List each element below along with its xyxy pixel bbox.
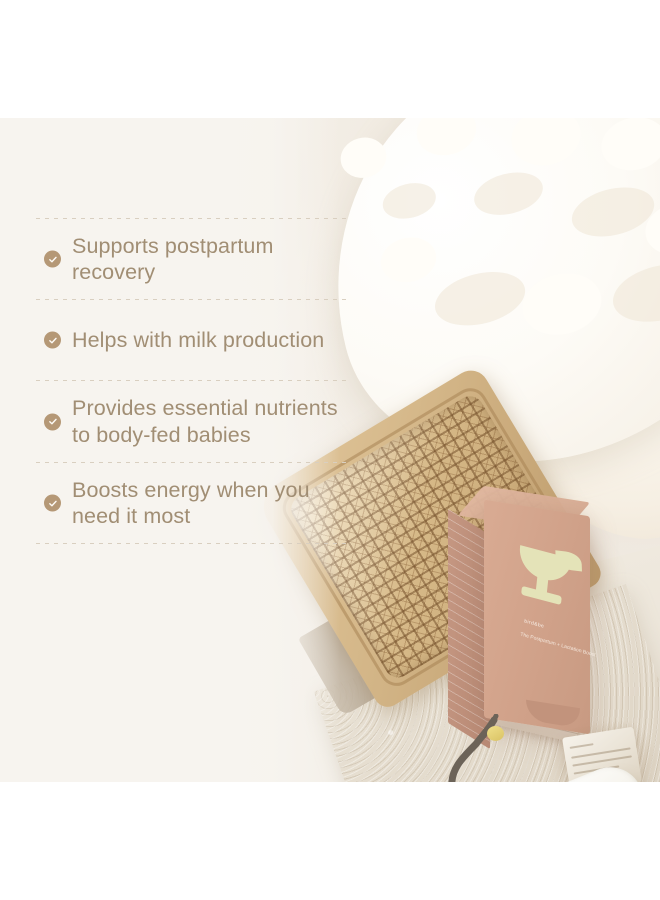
benefit-label: Boosts energy when you need it most xyxy=(72,477,348,529)
check-circle-icon xyxy=(44,332,61,349)
benefit-divider xyxy=(36,543,348,544)
letterbox-top xyxy=(0,0,660,118)
benefit-label: Provides essential nutrients to body-fed… xyxy=(72,395,348,447)
benefit-label: Helps with milk production xyxy=(72,327,324,353)
check-circle-icon xyxy=(44,495,61,512)
check-circle-icon xyxy=(44,413,61,430)
benefit-item-3: Provides essential nutrients to body-fed… xyxy=(36,381,348,461)
lanyard-cord xyxy=(432,714,592,782)
benefit-item-1: Supports postpartum recovery xyxy=(36,219,348,299)
screenshot-stage: bird&be The Postpartum + Lactation Boost xyxy=(0,0,660,900)
letterbox-bottom xyxy=(0,782,660,900)
carton-front-face xyxy=(484,500,590,735)
benefits-list: Supports postpartum recovery Helps with … xyxy=(36,218,348,544)
benefit-item-2: Helps with milk production xyxy=(36,300,348,380)
benefit-label: Supports postpartum recovery xyxy=(72,233,348,285)
cord-bead xyxy=(487,726,504,741)
product-carton: bird&be The Postpartum + Lactation Boost xyxy=(452,496,602,746)
check-circle-icon xyxy=(44,251,61,268)
benefit-item-4: Boosts energy when you need it most xyxy=(36,463,348,543)
